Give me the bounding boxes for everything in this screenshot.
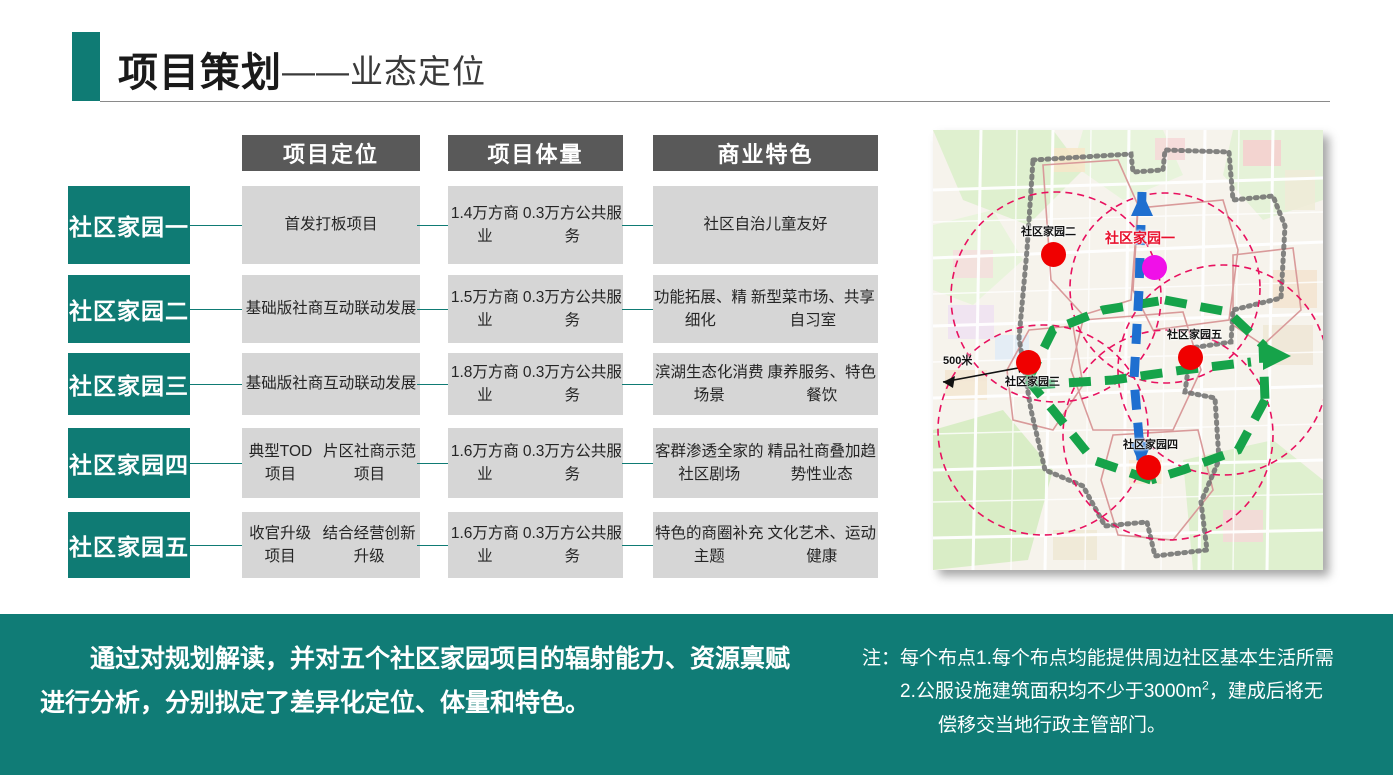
cell-line: 首发打板项目 [284,213,377,236]
footnote-superscript: 2 [1202,679,1209,693]
cell-volume-row-3: 1.8万方商业0.3万方公共服务 [448,353,623,415]
row-connector [190,225,242,226]
cell-line: 片区社商示范项目 [319,440,420,487]
cell-volume-row-4: 1.6万方商业0.3万方公共服务 [448,428,623,498]
cell-line: 0.3万方公共服务 [522,286,623,333]
row-label-community-5[interactable]: 社区家园五 [68,512,190,578]
column-header-positioning: 项目定位 [242,135,420,171]
column-header-volume: 项目体量 [448,135,623,171]
row-connector [622,545,653,546]
footnote-line-2-a: 2.公服设施建筑面积均不少于3000m [900,681,1202,702]
page-title-sub: ——业态定位 [282,45,486,93]
cell-positioning-row-1: 首发打板项目 [242,186,420,264]
row-connector [622,225,653,226]
map-marker-dot-community-3[interactable] [1016,350,1041,375]
cell-volume-row-5: 1.6万方商业0.3万方公共服务 [448,512,623,578]
column-header-features: 商业特色 [653,135,878,171]
cell-line: 基础版社商 [246,297,324,320]
page-title-main: 项目策划 [118,40,282,98]
footnote-line-1: 注：每个布点1.每个布点均能提供周边社区基本生活所需 [862,642,1367,675]
footnote-line-3: 偿移交当地行政主管部门。 [862,709,1367,742]
cell-features-row-1: 社区自治儿童友好 [653,186,878,264]
map-graphic [933,130,1323,570]
cell-line: 0.3万方公共服务 [522,202,623,249]
summary-line-2: 进行分析，分别拟定了差异化定位、体量和特色。 [40,682,830,726]
row-connector [417,309,448,310]
summary-text: 通过对规划解读，并对五个社区家园项目的辐射能力、资源禀赋 进行分析，分别拟定了差… [40,638,830,726]
row-connector [417,384,448,385]
map-label-community-4: 社区家园四 [1123,436,1178,452]
cell-line: 新型菜市场、共享自习室 [748,286,878,333]
row-connector [622,384,653,385]
row-connector [190,463,242,464]
cell-line: 1.8万方商业 [448,361,522,408]
summary-banner: 通过对规划解读，并对五个社区家园项目的辐射能力、资源禀赋 进行分析，分别拟定了差… [0,614,1393,775]
cell-line: 儿童友好 [766,213,828,236]
cell-line: 特色的商圈补充主题 [653,522,766,569]
row-label-community-1[interactable]: 社区家园一 [68,186,190,264]
summary-line-1: 通过对规划解读，并对五个社区家园项目的辐射能力、资源禀赋 [40,638,830,682]
cell-features-row-5: 特色的商圈补充主题文化艺术、运动健康 [653,512,878,578]
title-accent-bar [72,32,100,101]
row-connector [622,463,653,464]
cell-line: 1.5万方商业 [448,286,522,333]
title-divider [100,101,1330,102]
row-connector [417,225,448,226]
cell-positioning-row-5: 收官升级项目结合经营创新升级 [242,512,420,578]
cell-line: 结合经营创新升级 [318,522,420,569]
cell-line: 1.4万方商业 [448,202,522,249]
row-connector [190,384,242,385]
map-label-community-2: 社区家园二 [1021,223,1076,239]
cell-features-row-3: 滨湖生态化消费场景康养服务、特色餐饮 [653,353,878,415]
row-connector [417,545,448,546]
map-marker-dot-community-4[interactable] [1136,455,1161,480]
row-label-community-4[interactable]: 社区家园四 [68,428,190,498]
cell-line: 功能拓展、精细化 [653,286,748,333]
map-label-community-3: 社区家园三 [1005,373,1060,389]
footnote-line-2-b: ，建成后将无 [1209,681,1323,702]
cell-line: 0.3万方公共服务 [522,522,623,569]
cell-line: 互动联动发展 [323,297,416,320]
cell-line: 滨湖生态化消费场景 [653,361,766,408]
footnote-text: 注：每个布点1.每个布点均能提供周边社区基本生活所需 2.公服设施建筑面积均不少… [862,642,1367,742]
project-distribution-map[interactable]: 社区家园二 社区家园一 社区家园三 社区家园五 社区家园四 500米 [933,130,1323,570]
cell-volume-row-1: 1.4万方商业0.3万方公共服务 [448,186,623,264]
cell-line: 社区自治 [703,213,765,236]
map-label-community-5: 社区家园五 [1167,326,1222,342]
cell-line: 0.3万方公共服务 [522,440,623,487]
map-marker-dot-community-2[interactable] [1041,242,1066,267]
cell-line: 互动联动发展 [323,372,416,395]
cell-line: 1.6万方商业 [448,440,522,487]
cell-line: 精品社商叠加趋势性业态 [766,440,879,487]
cell-line: 0.3万方公共服务 [522,361,623,408]
cell-line: 收官升级项目 [242,522,318,569]
cell-line: 客群渗透全家的社区剧场 [653,440,766,487]
map-marker-dot-community-1[interactable] [1142,255,1167,280]
row-label-community-2[interactable]: 社区家园二 [68,275,190,343]
row-connector [622,309,653,310]
cell-line: 典型TOD项目 [242,440,319,487]
row-label-community-3[interactable]: 社区家园三 [68,353,190,415]
row-connector [190,545,242,546]
row-connector [190,309,242,310]
cell-line: 1.6万方商业 [448,522,522,569]
cell-volume-row-2: 1.5万方商业0.3万方公共服务 [448,275,623,343]
page-title: 项目策划 ——业态定位 [118,40,486,98]
map-marker-dot-community-5[interactable] [1178,345,1203,370]
footnote-line-2: 2.公服设施建筑面积均不少于3000m2，建成后将无 [862,675,1367,708]
row-connector [417,463,448,464]
map-label-community-1: 社区家园一 [1105,228,1175,248]
cell-line: 文化艺术、运动健康 [766,522,879,569]
cell-features-row-2: 功能拓展、精细化新型菜市场、共享自习室 [653,275,878,343]
cell-features-row-4: 客群渗透全家的社区剧场精品社商叠加趋势性业态 [653,428,878,498]
cell-line: 康养服务、特色餐饮 [766,361,879,408]
cell-positioning-row-4: 典型TOD项目片区社商示范项目 [242,428,420,498]
map-scale-label: 500米 [943,352,972,368]
cell-positioning-row-3: 基础版社商互动联动发展 [242,353,420,415]
cell-positioning-row-2: 基础版社商互动联动发展 [242,275,420,343]
cell-line: 基础版社商 [246,372,324,395]
